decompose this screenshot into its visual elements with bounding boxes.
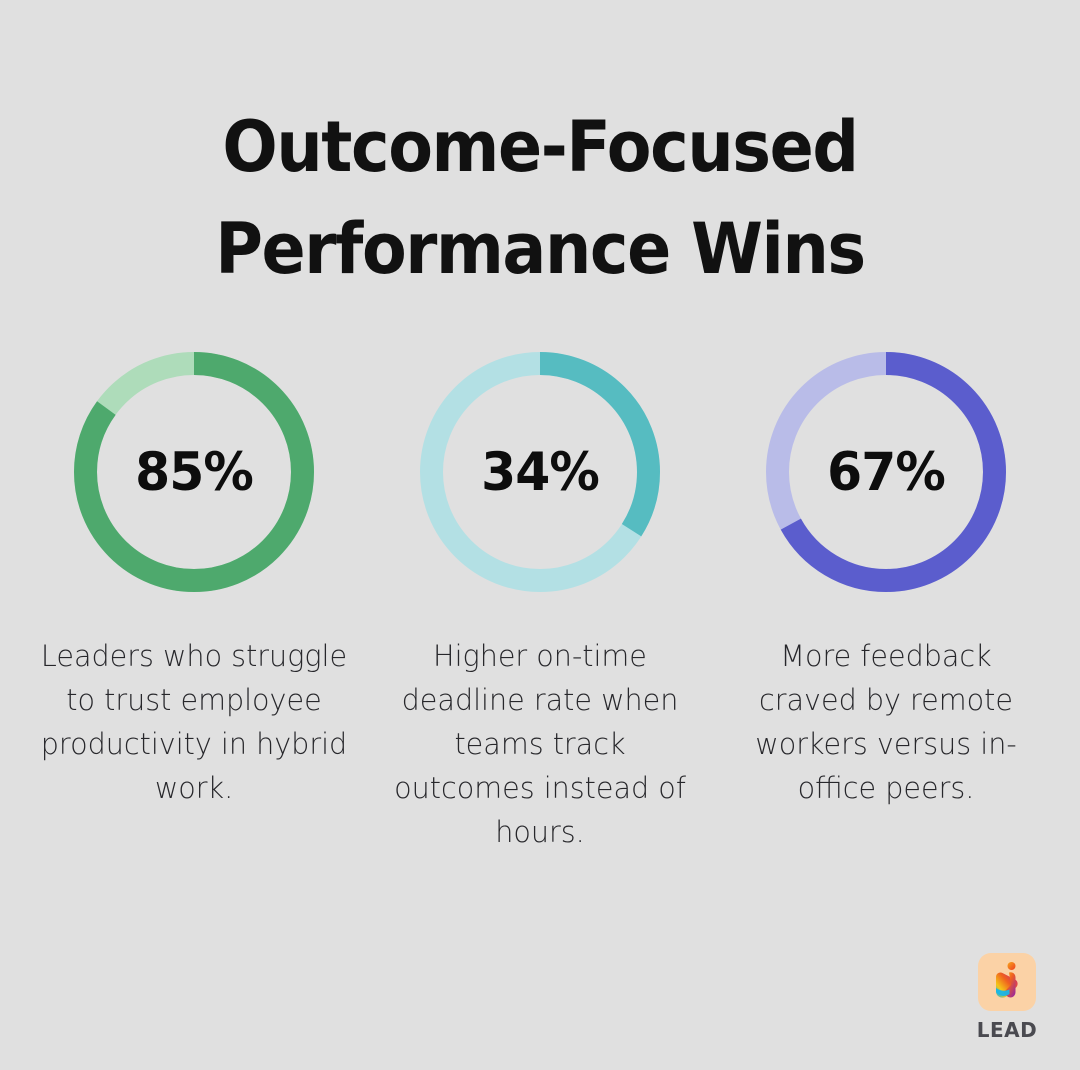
lead-bird-icon-svg [987,961,1027,1003]
donut-value-label-1: 85% [80,352,308,592]
page-title-line-2: Performance Wins [38,198,1042,300]
page-title-line-1: Outcome-Focused [38,96,1042,198]
donut-value-label-2: 34% [426,352,654,592]
brand-logo: LEAD [964,953,1050,1042]
lead-bird-icon [978,953,1036,1011]
donut-value-label-3: 67% [772,352,1000,592]
stats-row: 85% Leaders who struggle to trust employ… [0,352,1080,854]
stat-caption-2: Higher on-time deadline rate when teams … [385,634,695,854]
stat-card-2: 34% Higher on-time deadline rate when te… [367,352,713,854]
donut-chart-3: 67% [766,352,1006,592]
brand-wordmark: LEAD [977,1018,1038,1042]
stat-caption-3: More feedback craved by remote workers v… [731,634,1041,810]
donut-chart-1: 85% [74,352,314,592]
donut-chart-2: 34% [420,352,660,592]
stat-card-3: 67% More feedback craved by remote worke… [713,352,1059,810]
stat-caption-1: Leaders who struggle to trust employee p… [39,634,349,810]
stat-card-1: 85% Leaders who struggle to trust employ… [21,352,367,810]
infographic-canvas: Outcome-Focused Performance Wins 85% Lea… [0,0,1080,1070]
page-title: Outcome-Focused Performance Wins [0,96,1080,300]
